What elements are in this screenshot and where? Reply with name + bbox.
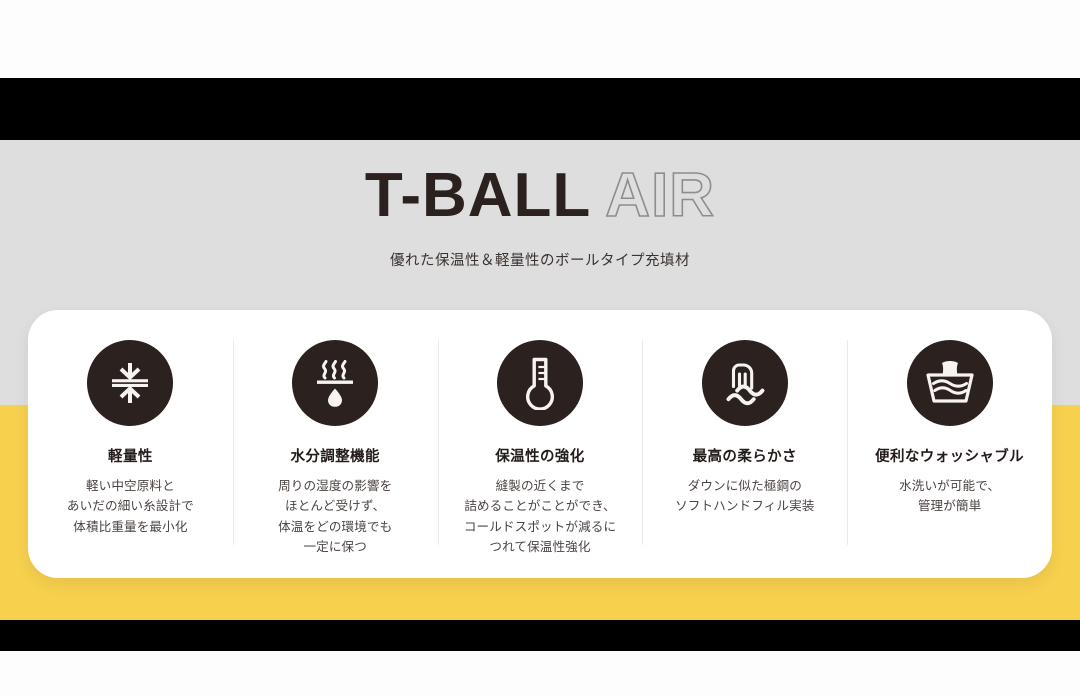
feature-body: 水洗いが可能で、 管理が簡単 <box>857 476 1042 517</box>
feature-item-softness: 最高の柔らかさ ダウンに似た極鋼の ソフトハンドフィル実装 <box>642 310 847 517</box>
promo-banner: T-BALLAIR 優れた保温性＆軽量性のボールタイプ充填材 <box>0 0 1080 696</box>
feature-item-moisture-control: 水分調整機能 周りの湿度の影響を ほとんど受けず、 体温をどの環境でも 一定に保… <box>233 310 438 558</box>
page-title: T-BALLAIR <box>0 160 1080 231</box>
feature-body: ダウンに似た極鋼の ソフトハンドフィル実装 <box>652 476 837 517</box>
hero-section: T-BALLAIR 優れた保温性＆軽量性のボールタイプ充填材 <box>0 160 1080 270</box>
feature-title: 水分調整機能 <box>243 445 428 466</box>
feature-body: 軽い中空原料と あいだの細い糸設計で 体積比重量を最小化 <box>38 476 223 537</box>
steam-droplet-icon <box>292 340 378 426</box>
feature-title: 軽量性 <box>38 445 223 466</box>
bottom-black-bar <box>0 620 1080 651</box>
feature-list: 軽量性 軽い中空原料と あいだの細い糸設計で 体積比重量を最小化 <box>28 310 1052 578</box>
washtub-icon <box>907 340 993 426</box>
feature-body: 縫製の近くまで 詰めることがことができ、 コールドスポットが減るに つれて保温性… <box>448 476 633 558</box>
feature-title: 便利なウォッシャブル <box>857 445 1042 466</box>
feature-item-lightweight: 軽量性 軽い中空原料と あいだの細い糸設計で 体積比重量を最小化 <box>28 310 233 537</box>
top-black-bar <box>0 78 1080 140</box>
feature-title: 保温性の強化 <box>448 445 633 466</box>
feature-card: 軽量性 軽い中空原料と あいだの細い糸設計で 体積比重量を最小化 <box>28 310 1052 578</box>
brand-name-solid: T-BALL <box>365 161 591 230</box>
hero-subtitle: 優れた保温性＆軽量性のボールタイプ充填材 <box>0 249 1080 270</box>
hand-touch-fabric-icon <box>702 340 788 426</box>
compress-arrows-icon <box>87 340 173 426</box>
feature-item-washable: 便利なウォッシャブル 水洗いが可能で、 管理が簡単 <box>847 310 1052 517</box>
thermometer-icon <box>497 340 583 426</box>
feature-title: 最高の柔らかさ <box>652 445 837 466</box>
feature-body: 周りの湿度の影響を ほとんど受けず、 体温をどの環境でも 一定に保つ <box>243 476 428 558</box>
feature-item-thermal: 保温性の強化 縫製の近くまで 詰めることがことができ、 コールドスポットが減るに… <box>438 310 643 558</box>
brand-name-outline: AIR <box>605 161 715 230</box>
